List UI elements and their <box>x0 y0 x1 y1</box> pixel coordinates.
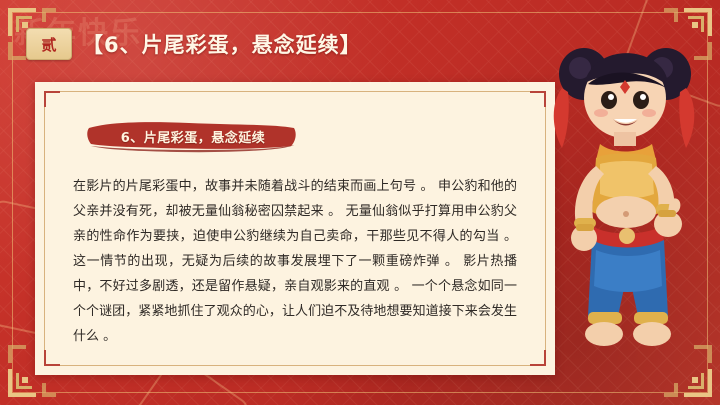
content-card: 6、片尾彩蛋，悬念延续 在影片的片尾彩蛋中，故事并未随着战斗的结束而画上句号 。… <box>35 82 555 375</box>
slide-root: 新年快乐 <box>0 0 720 405</box>
body-paragraph: 在影片的片尾彩蛋中，故事并未随着战斗的结束而画上句号 。 申公豹和他的父亲并没有… <box>73 174 517 349</box>
section-banner: 6、片尾彩蛋，悬念延续 <box>85 119 301 153</box>
slide-header: 贰 【6、片尾彩蛋，悬念延续】 <box>26 28 362 60</box>
page-title: 【6、片尾彩蛋，悬念延续】 <box>82 29 362 59</box>
section-banner-title: 6、片尾彩蛋，悬念延续 <box>85 119 301 153</box>
seal-badge: 贰 <box>26 28 72 60</box>
card-corner-mark <box>44 91 60 107</box>
card-corner-mark <box>44 350 60 366</box>
nezha-character-illustration <box>544 26 702 376</box>
